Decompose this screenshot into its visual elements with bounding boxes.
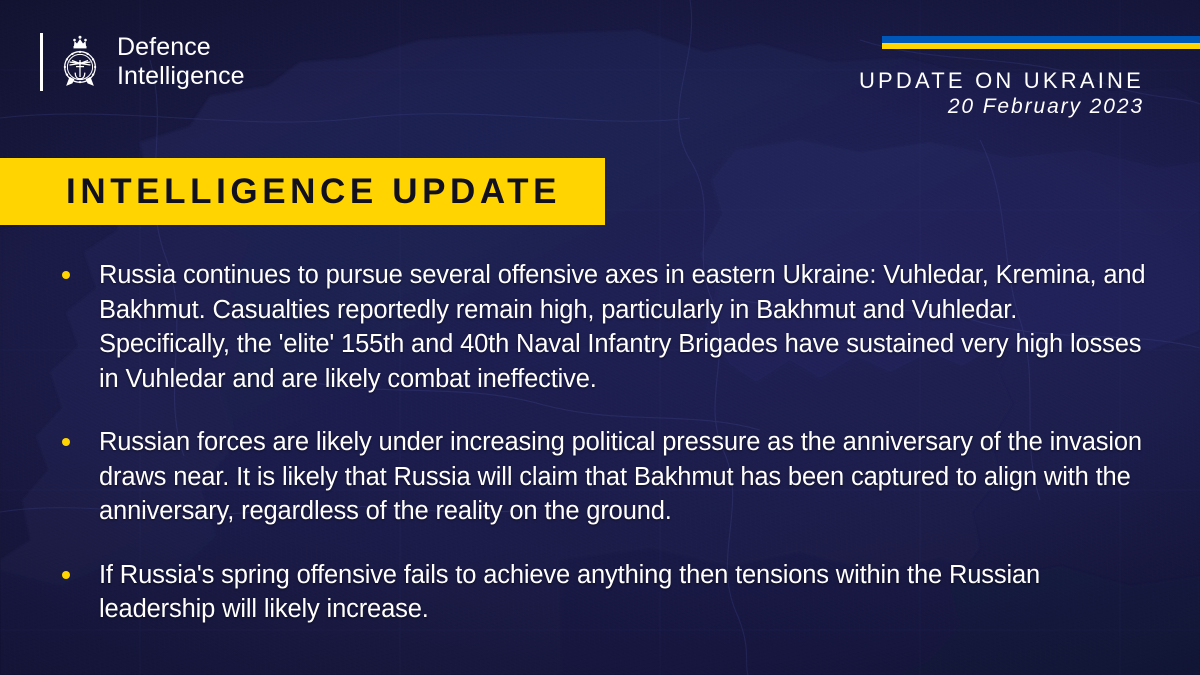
intelligence-update-banner: INTELLIGENCE UPDATE (0, 158, 605, 225)
brand-line-1: Defence (117, 33, 245, 62)
bullet-text: Russia continues to pursue several offen… (99, 258, 1152, 396)
brand-line-2: Intelligence (117, 62, 245, 91)
flag-stripe-blue (882, 36, 1200, 43)
bullet-text: If Russia's spring offensive fails to ac… (99, 558, 1152, 627)
bullet-dot-icon (62, 438, 70, 446)
defence-intelligence-crest-icon (57, 33, 103, 91)
update-heading-block: UPDATE ON UKRAINE 20 February 2023 (859, 68, 1144, 120)
list-item: Russian forces are likely under increasi… (62, 425, 1152, 529)
bullet-list: Russia continues to pursue several offen… (62, 258, 1152, 627)
list-item: Russia continues to pursue several offen… (62, 258, 1152, 396)
bullet-text: Russian forces are likely under increasi… (99, 425, 1152, 529)
update-title: UPDATE ON UKRAINE (859, 68, 1144, 93)
update-date: 20 February 2023 (859, 94, 1144, 120)
flag-stripe-yellow (882, 43, 1200, 49)
brand-lockup: Defence Intelligence (40, 33, 245, 91)
brand-divider-rule (40, 33, 43, 91)
header: Defence Intelligence UPDATE ON UKRAINE 2… (0, 0, 1200, 150)
brand-name: Defence Intelligence (117, 33, 245, 91)
ukraine-flag-bar (882, 36, 1200, 49)
banner-label: INTELLIGENCE UPDATE (66, 174, 561, 210)
intelligence-update-graphic: Defence Intelligence UPDATE ON UKRAINE 2… (0, 0, 1200, 675)
bullet-dot-icon (62, 271, 70, 279)
list-item: If Russia's spring offensive fails to ac… (62, 558, 1152, 627)
bullet-dot-icon (62, 571, 70, 579)
